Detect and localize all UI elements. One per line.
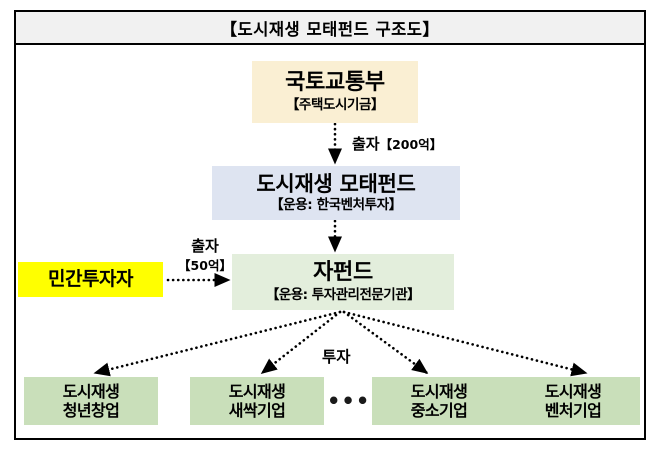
node-sub-fund: 자펀드 【운용: 투자관리전문기관】 — [232, 254, 454, 310]
node-target-line2: 중소기업 — [411, 402, 467, 420]
node-ministry: 국토교통부 【주택도시기금】 — [252, 61, 418, 123]
node-target-line2: 새싹기업 — [229, 402, 285, 420]
edge-label-investment-50: 출자【50억】 — [176, 235, 234, 274]
node-target-sprout-company: 도시재생 새싹기업 — [190, 377, 324, 425]
node-target-line1: 도시재생 — [411, 383, 467, 401]
node-target-line1: 도시재생 — [545, 383, 601, 401]
node-target-line1: 도시재생 — [63, 383, 119, 401]
node-private-investor: 민간투자자 — [18, 262, 163, 297]
node-target-youth-startup: 도시재생 청년창업 — [24, 377, 158, 425]
edge-label-investment-200: 출자【200억】 — [352, 133, 442, 154]
edge-label-text: 출자 — [191, 237, 219, 255]
node-target-venture-company: 도시재생 벤처기업 — [506, 377, 640, 425]
edge-label-text: 출자 — [352, 135, 380, 153]
diagram-title-band: 【도시재생 모태펀드 구조도】 — [14, 10, 646, 45]
node-mother-fund-title: 도시재생 모태펀드 — [256, 173, 415, 197]
ellipsis-indicator: ••• — [327, 391, 367, 412]
node-sub-fund-title: 자펀드 — [313, 261, 373, 286]
edge-label-investment-targets: 투자 — [322, 345, 351, 367]
node-ministry-title: 국토교통부 — [285, 71, 385, 96]
node-target-line2: 청년창업 — [63, 402, 119, 420]
node-target-line2: 벤처기업 — [545, 402, 601, 420]
page-title: 【도시재생 모태펀드 구조도】 — [221, 16, 440, 40]
node-target-sme: 도시재생 중소기업 — [372, 377, 506, 425]
node-mother-fund: 도시재생 모태펀드 【운용: 한국벤처투자】 — [212, 166, 460, 220]
edge-label-amount: 【50억】 — [176, 255, 234, 274]
node-mother-fund-subtitle: 【운용: 한국벤처투자】 — [270, 198, 402, 213]
node-private-investor-title: 민간투자자 — [48, 269, 133, 290]
node-target-line1: 도시재생 — [229, 383, 285, 401]
node-ministry-subtitle: 【주택도시기금】 — [286, 98, 384, 113]
edge-label-amount: 【200억】 — [380, 137, 443, 152]
diagram-page: 【도시재생 모태펀드 구조도】 국토교통부 【주택도시기금】 도시재생 모태펀드… — [0, 0, 660, 456]
node-sub-fund-subtitle: 【운용: 투자관리전문기관】 — [266, 288, 420, 303]
